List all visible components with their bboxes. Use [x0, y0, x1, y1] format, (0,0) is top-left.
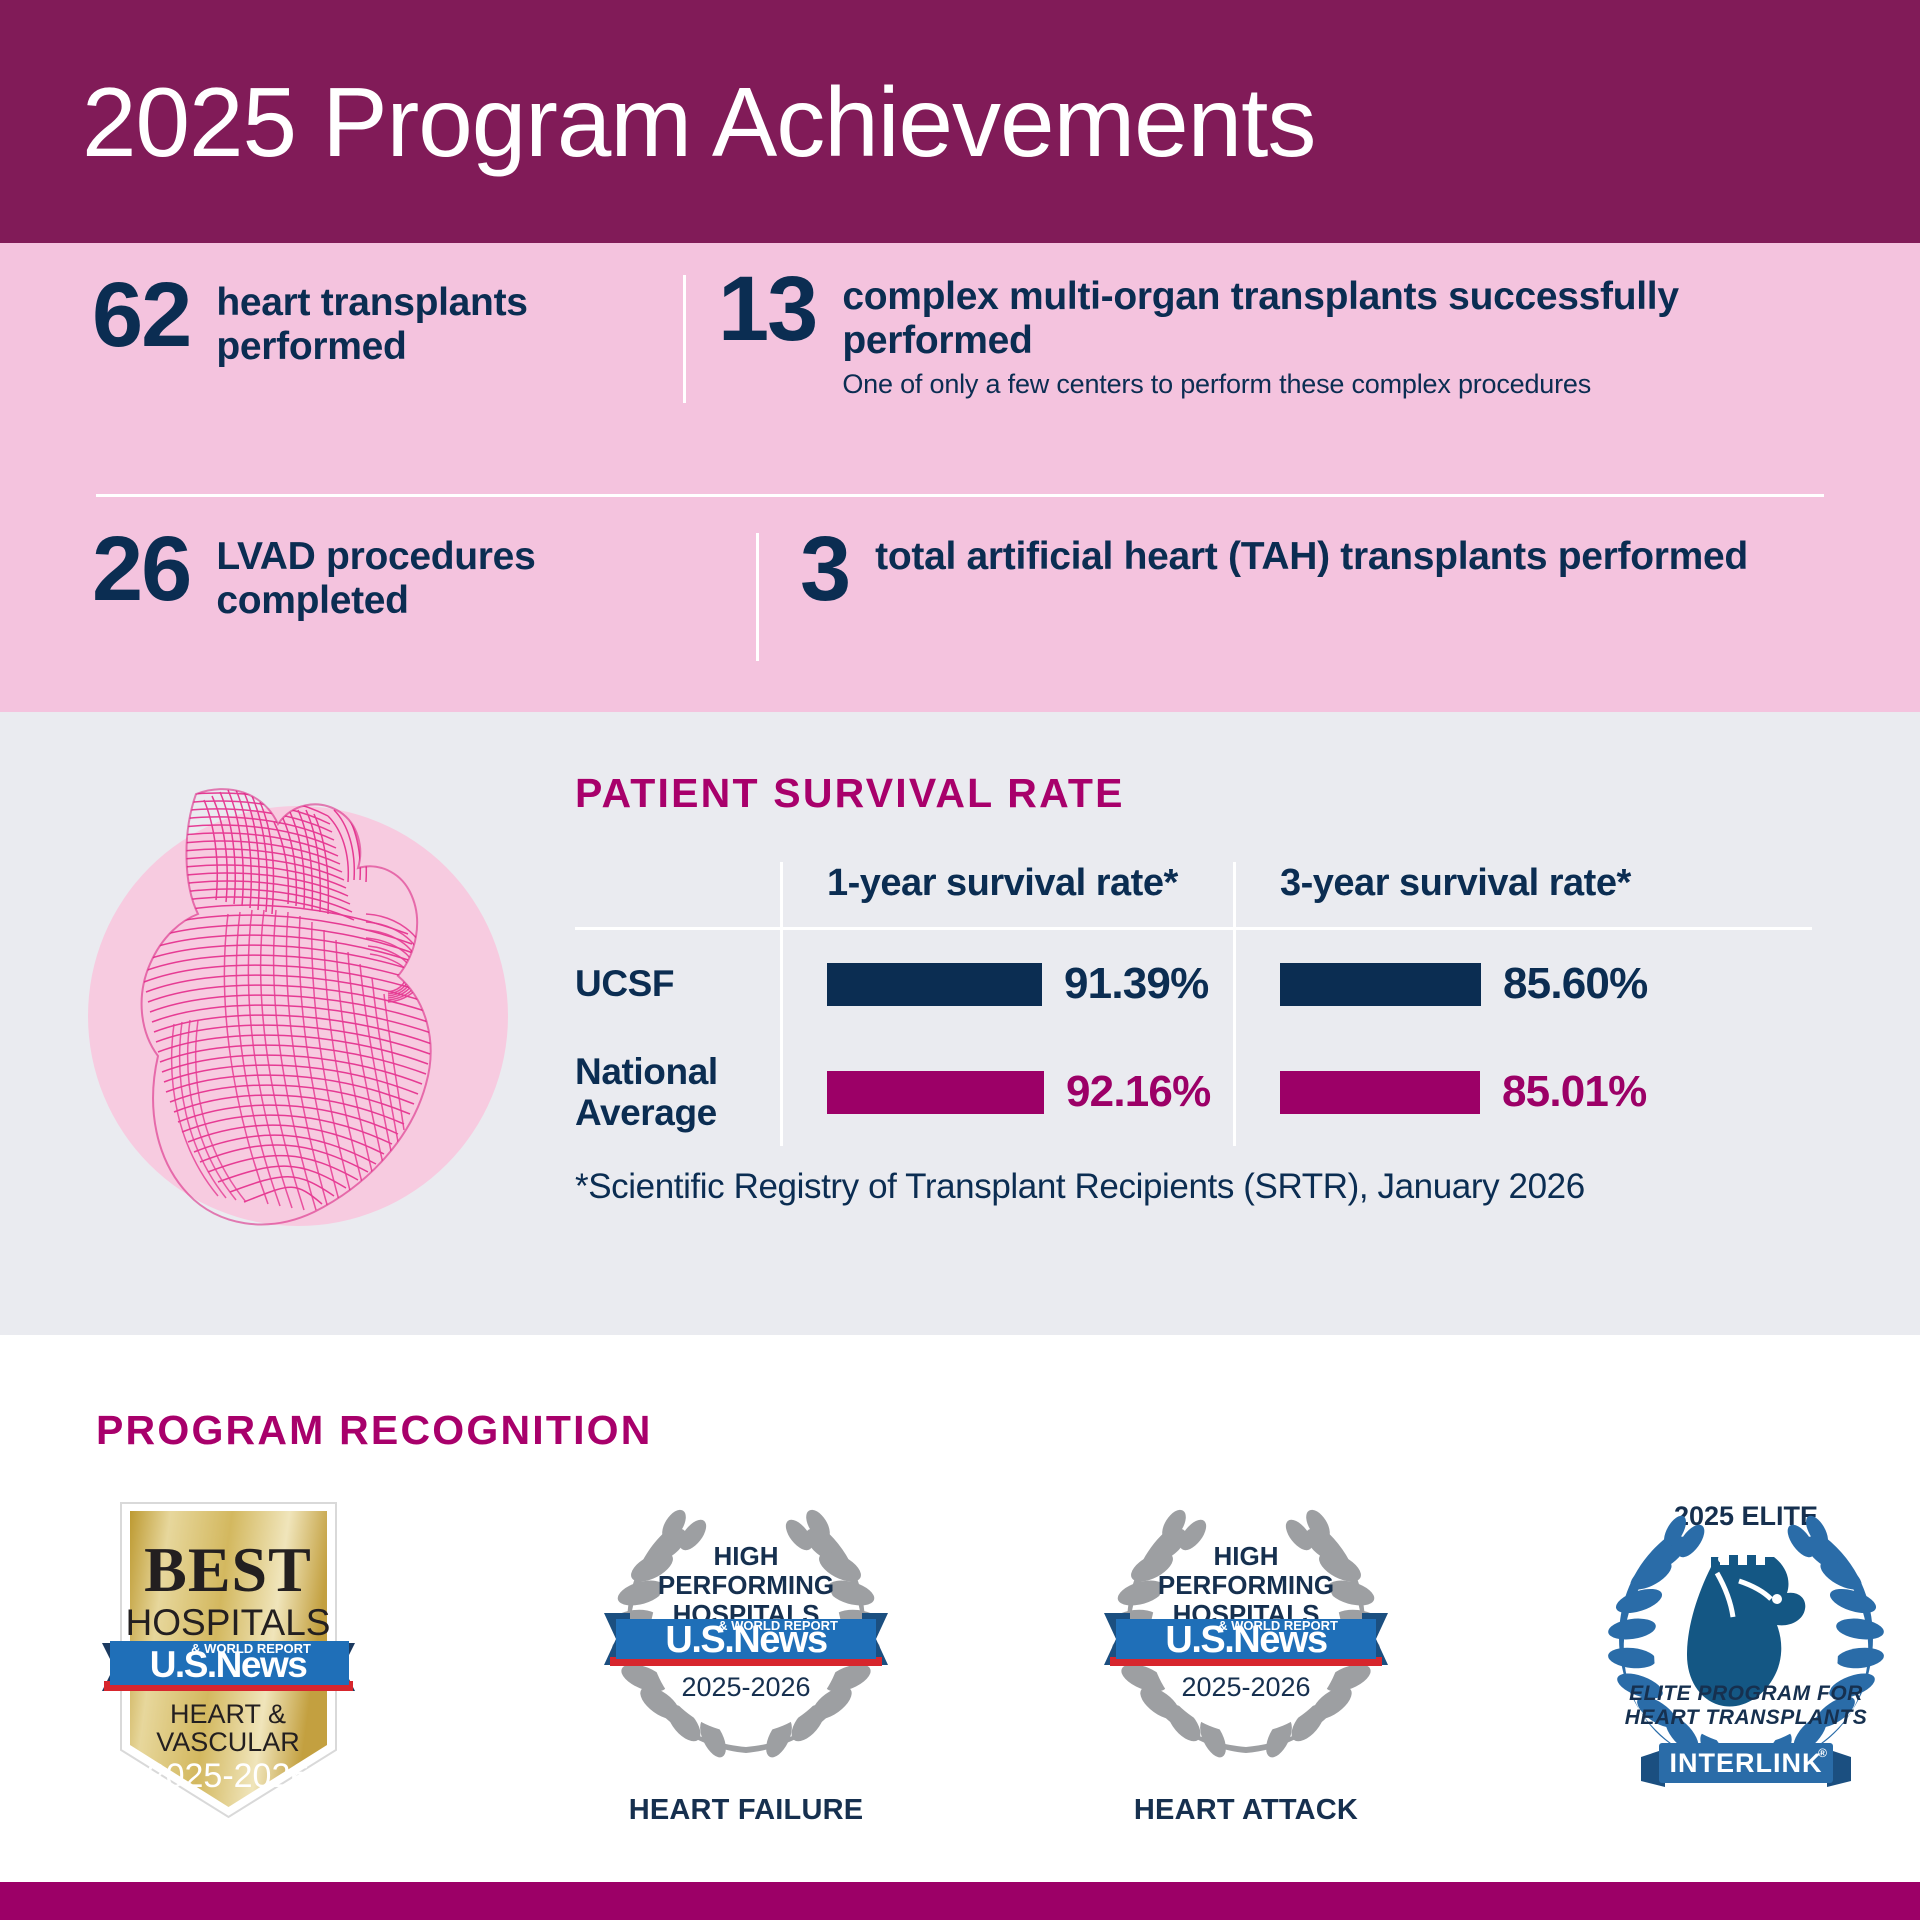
value-national-3-year: 85.01% [1480, 1067, 1646, 1117]
footer-accent-bar [0, 1882, 1920, 1920]
table-header-spacer [575, 862, 780, 927]
column-header-3-year: 3-year survival rate* [1233, 862, 1686, 927]
badge-brand-sub: & WORLD REPORT [718, 1618, 838, 1633]
badge-line2: HOSPITALS [126, 1602, 331, 1643]
anatomical-heart-icon [78, 764, 508, 1234]
stats-divider-vertical-top [683, 275, 686, 403]
badge-line1: ELITE PROGRAM FOR [1629, 1682, 1863, 1705]
badge-years: 2025-2026 [681, 1672, 810, 1702]
survival-rate-table: 1-year survival rate* 3-year survival ra… [575, 862, 1855, 1146]
badge-years: 2025-2026 [1181, 1672, 1310, 1702]
badge-line2: PERFORMING [1158, 1570, 1334, 1600]
interlink-elite-wreath-icon: 2025 ELITE [1591, 1495, 1901, 1805]
row-label-ucsf: UCSF [575, 963, 780, 1004]
page-header: 2025 Program Achievements [0, 0, 1920, 243]
stat-number: 13 [718, 269, 816, 350]
stat-number: 26 [92, 529, 190, 610]
bar-national-1-year [827, 1071, 1044, 1114]
stats-divider-vertical-bottom [756, 533, 759, 661]
badge-years: 2025-2026 [147, 1757, 310, 1795]
survival-footnote: *Scientific Registry of Transplant Recip… [575, 1167, 1585, 1207]
badge-brand-sub: & WORLD REPORT [1218, 1618, 1338, 1633]
value-national-1-year: 92.16% [1044, 1067, 1210, 1117]
stat-label: heart transplants performed [216, 281, 652, 368]
survival-section-title: PATIENT SURVIVAL RATE [575, 770, 1125, 817]
value-ucsf-1-year: 91.39% [1042, 959, 1208, 1009]
stat-label: LVAD procedures completed [216, 535, 712, 622]
heart-illustration [78, 764, 508, 1224]
high-performing-hospitals-wreath-icon: HIGH PERFORMING HOSPITALS U.S.News & WOR… [1096, 1495, 1396, 1785]
stats-divider-horizontal [96, 494, 1824, 497]
badge-high-performing-heart-attack: HIGH PERFORMING HOSPITALS U.S.News & WOR… [1096, 1495, 1396, 1827]
stat-lvad-procedures: 26 LVAD procedures completed [92, 529, 712, 622]
value-ucsf-3-year: 85.60% [1481, 959, 1647, 1009]
stat-tah-transplants: 3 total artificial heart (TAH) transplan… [800, 529, 1880, 610]
badge-high-performing-heart-failure: HIGH PERFORMING HOSPITALS U.S.News & WOR… [596, 1495, 896, 1827]
high-performing-hospitals-wreath-icon: HIGH PERFORMING HOSPITALS U.S.News & WOR… [596, 1495, 896, 1785]
badge-brand: INTERLINK [1670, 1748, 1823, 1778]
column-header-1-year: 1-year survival rate* [780, 862, 1233, 927]
stat-number: 3 [800, 529, 849, 610]
cell-national-1-year: 92.16% [780, 1038, 1233, 1146]
badge-interlink-elite: 2025 ELITE [1591, 1495, 1901, 1810]
recognition-section: PROGRAM RECOGNITION [0, 1335, 1920, 1882]
stat-label: total artificial heart (TAH) transplants… [875, 535, 1748, 579]
table-row: National Average 92.16% 85.01% [575, 1038, 1855, 1146]
badge-caption: HEART FAILURE [596, 1794, 896, 1827]
cell-ucsf-3-year: 85.60% [1233, 930, 1686, 1038]
badge-caption: HEART ATTACK [1096, 1794, 1396, 1827]
row-label-national-average: National Average [575, 1051, 780, 1134]
stat-number: 62 [92, 275, 190, 356]
badge-specialty-1: HEART & [170, 1699, 286, 1729]
award-badges-list: BEST HOSPITALS U.S.News & WORLD REPORT H… [96, 1495, 1856, 1835]
stat-label: complex multi-organ transplants successf… [842, 275, 1878, 362]
page-title: 2025 Program Achievements [0, 73, 1315, 171]
badge-best-hospitals: BEST HOSPITALS U.S.News & WORLD REPORT H… [96, 1495, 361, 1830]
stat-heart-transplants: 62 heart transplants performed [92, 275, 652, 368]
bar-ucsf-3-year [1280, 963, 1481, 1006]
badge-line1: HIGH [1214, 1541, 1279, 1571]
badge-line2: HEART TRANSPLANTS [1625, 1706, 1868, 1729]
infographic-page: 2025 Program Achievements 62 heart trans… [0, 0, 1920, 1920]
table-header-row: 1-year survival rate* 3-year survival ra… [575, 862, 1855, 927]
badge-line1: HIGH [714, 1541, 779, 1571]
best-hospitals-shield-icon: BEST HOSPITALS U.S.News & WORLD REPORT H… [96, 1495, 361, 1825]
bar-national-3-year [1280, 1071, 1480, 1114]
badge-line2: PERFORMING [658, 1570, 834, 1600]
stats-band: 62 heart transplants performed 13 comple… [0, 243, 1920, 712]
cell-ucsf-1-year: 91.39% [780, 930, 1233, 1038]
stat-multi-organ-transplants: 13 complex multi-organ transplants succe… [718, 269, 1878, 401]
cell-national-3-year: 85.01% [1233, 1038, 1686, 1146]
badge-specialty-2: VASCULAR [156, 1727, 300, 1757]
table-row: UCSF 91.39% 85.60% [575, 930, 1855, 1038]
survival-section: PATIENT SURVIVAL RATE 1-year survival ra… [0, 712, 1920, 1335]
badge-line1: BEST [144, 1534, 312, 1605]
recognition-section-title: PROGRAM RECOGNITION [96, 1407, 653, 1454]
badge-brand-sub: & WORLD REPORT [191, 1641, 311, 1656]
badge-brand-mark: ® [1818, 1746, 1827, 1760]
bar-ucsf-1-year [827, 963, 1042, 1006]
stat-sublabel: One of only a few centers to perform the… [842, 362, 1878, 400]
